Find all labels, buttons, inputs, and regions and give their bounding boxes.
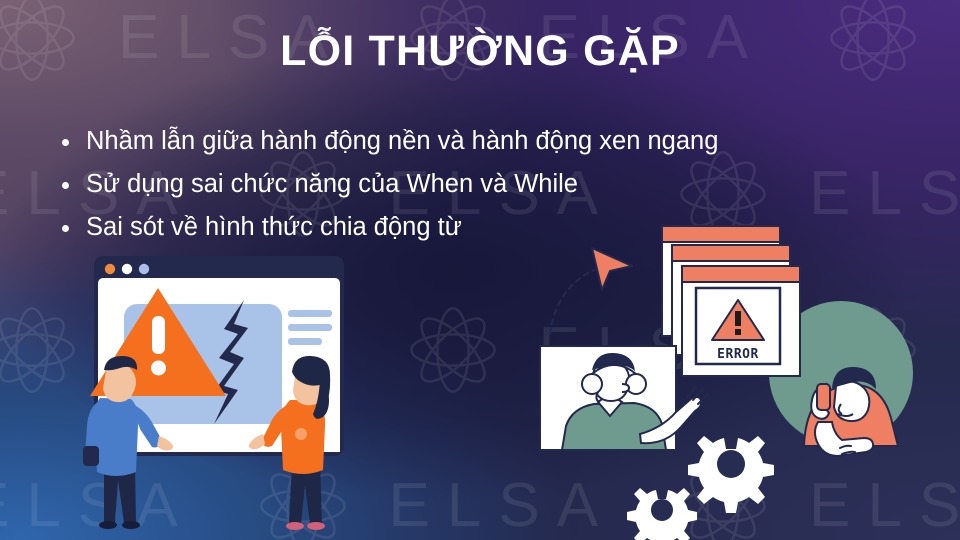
list-item-label: Nhầm lẫn giữa hành động nền và hành động… <box>86 124 718 158</box>
bullet-dot-icon <box>62 182 69 189</box>
bullet-dot-icon <box>62 139 69 146</box>
browser-error-illustration <box>58 248 378 540</box>
error-box: ERROR <box>696 288 780 364</box>
error-box-label: ERROR <box>717 347 759 362</box>
list-item: Nhầm lẫn giữa hành động nền và hành động… <box>62 124 862 158</box>
list-item: Sử dụng sai chức năng của When và While <box>62 167 862 201</box>
list-item-label: Sử dụng sai chức năng của When và While <box>86 167 578 201</box>
list-item-label: Sai sót về hình thức chia động từ <box>86 210 462 244</box>
support-error-illustration: ERROR <box>536 208 960 540</box>
slide-title: LỖI THƯỜNG GẶP <box>0 28 960 75</box>
cursor-arrow-icon <box>550 248 632 334</box>
slide-canvas: ELSA ELSA ELSA <box>0 0 960 540</box>
bullet-dot-icon <box>62 225 69 232</box>
